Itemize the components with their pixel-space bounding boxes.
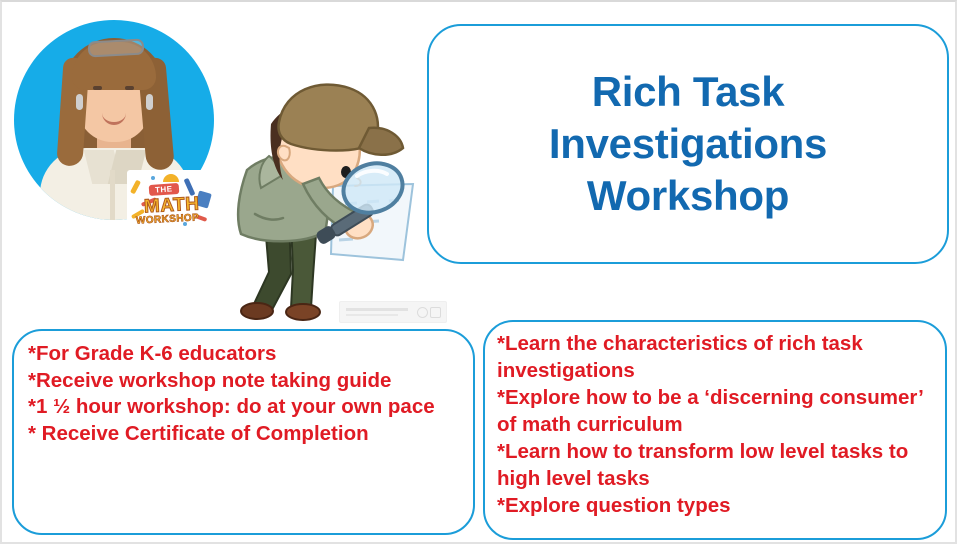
photo-blouse-placket bbox=[110, 170, 115, 220]
sunglasses-on-head-icon bbox=[88, 39, 145, 58]
photo-eye-left bbox=[93, 86, 102, 90]
workshop-details-list: *For Grade K-6 educators *Receive worksh… bbox=[28, 341, 472, 448]
presenter-photo: THE MATH WORKSHOP bbox=[14, 20, 214, 220]
slide-canvas: THE MATH WORKSHOP bbox=[0, 0, 957, 544]
math-workshop-logo: THE MATH WORKSHOP bbox=[127, 170, 213, 234]
list-item: * Receive Certificate of Completion bbox=[28, 421, 472, 448]
page-title: Rich Task Investigations Workshop bbox=[549, 66, 827, 222]
list-item: *1 ½ hour workshop: do at your own pace bbox=[28, 394, 472, 421]
list-item: *Learn how to transform low level tasks … bbox=[497, 438, 937, 492]
workshop-details-box: *For Grade K-6 educators *Receive worksh… bbox=[12, 329, 475, 535]
learning-outcomes-box: *Learn the characteristics of rich task … bbox=[483, 320, 947, 540]
logo-workshop-text: WORKSHOP bbox=[136, 212, 200, 226]
photo-eye-right bbox=[125, 86, 134, 90]
list-item: *For Grade K-6 educators bbox=[28, 341, 472, 368]
learning-outcomes-list: *Learn the characteristics of rich task … bbox=[497, 330, 937, 519]
list-item: *Explore question types bbox=[497, 492, 937, 519]
photo-earring-right bbox=[146, 94, 153, 110]
list-item: *Learn the characteristics of rich task … bbox=[497, 330, 937, 384]
boy-with-magnifying-glass-illustration bbox=[207, 64, 437, 324]
photo-earring-left bbox=[76, 94, 83, 110]
title-box: Rich Task Investigations Workshop bbox=[427, 24, 949, 264]
list-item: *Receive workshop note taking guide bbox=[28, 368, 472, 395]
clipart-watermark bbox=[339, 301, 447, 323]
list-item: *Explore how to be a ‘discerning consume… bbox=[497, 384, 937, 438]
